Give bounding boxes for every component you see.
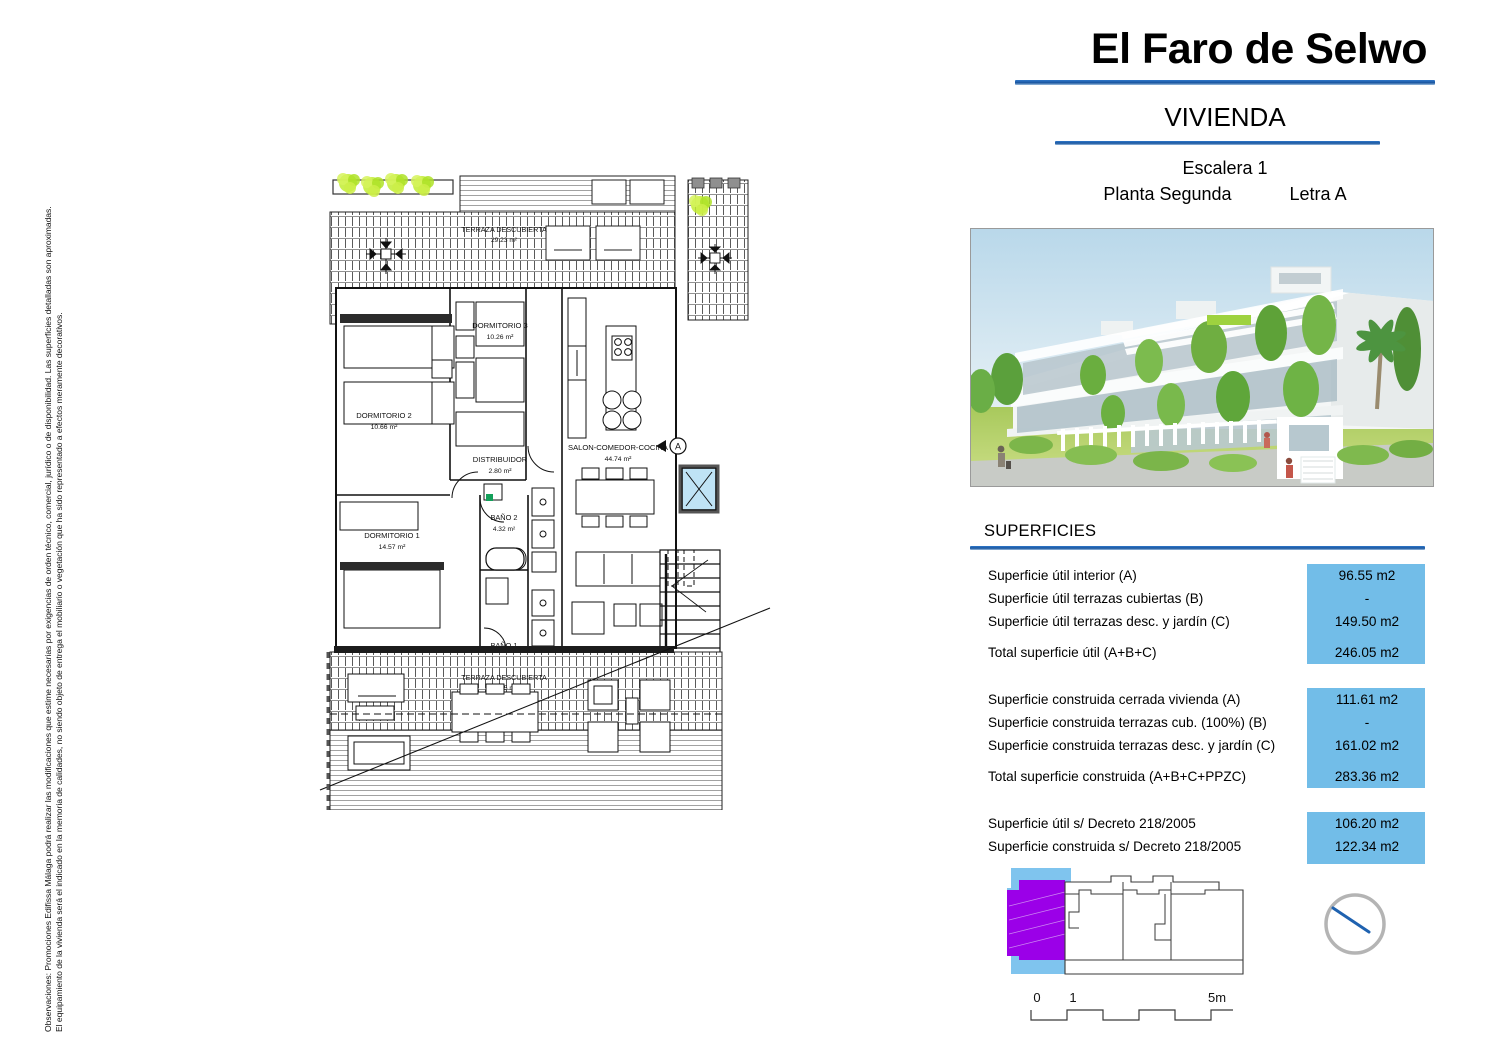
superficies-group-decreto: Superficie útil s/ Decreto 218/2005 106.… [970,812,1432,858]
room-label-terraza-inf: TERRAZA DESCUBIERTA [461,673,547,682]
row-label: Superficie construida s/ Decreto 218/200… [970,839,1308,854]
title-divider [1015,80,1435,85]
superficies-group-construida: Superficie construida cerrada vivienda (… [970,688,1432,788]
row-value: 283.36 m2 [1308,769,1426,784]
table-row: Superficie construida terrazas cub. (100… [970,711,1432,734]
escalera-label: Escalera 1 [1010,158,1440,179]
superficies-group-util: Superficie útil interior (A) 96.55 m2 Su… [970,564,1432,664]
room-area-dormitorio-1: 14.57 m² [379,544,407,551]
room-area-salon: 44.74 m² [605,456,633,463]
title-block: El Faro de Selwo VIVIENDA Escalera 1 Pla… [965,28,1435,205]
scale-tick-1: 1 [1069,990,1076,1005]
table-row-total: Total superficie útil (A+B+C) 246.05 m2 [970,641,1432,664]
table-row: Superficie construida cerrada vivienda (… [970,688,1432,711]
row-label: Superficie útil terrazas cubiertas (B) [970,591,1308,606]
subtitle: VIVIENDA [1015,102,1435,133]
row-value: 161.02 m2 [1308,738,1426,753]
room-label-dormitorio-2: DORMITORIO 2 [356,411,412,420]
row-label: Superficie útil s/ Decreto 218/2005 [970,816,1308,831]
legal-notice-line-2: El equipamiento de la vivienda será el i… [55,312,64,1032]
row-label: Total superficie útil (A+B+C) [970,645,1308,660]
row-label: Superficie construida terrazas desc. y j… [970,738,1308,753]
superficies-heading: SUPERFICIES [970,522,1432,541]
table-row: Superficie útil interior (A) 96.55 m2 [970,564,1432,587]
row-label: Superficie construida cerrada vivienda (… [970,692,1308,707]
subtitle-divider [1055,141,1380,145]
row-value: 96.55 m2 [1308,568,1426,583]
room-area-dormitorio-2: 10.66 m² [371,424,399,431]
room-label-salon: SALON-COMEDOR-COCINA [568,443,669,452]
room-label-bano-2: BAÑO 2 [490,513,517,522]
page-title: El Faro de Selwo [965,28,1435,71]
superficies-section: SUPERFICIES Superficie útil interior (A)… [970,522,1432,858]
compass-north-icon [1326,895,1384,953]
superficies-divider [970,546,1425,550]
planta-letra-row: Planta Segunda Letra A [1010,184,1440,205]
scale-tick-0: 0 [1033,990,1040,1005]
room-area-distribuidor: 2.80 m² [488,468,512,475]
row-value: 111.61 m2 [1308,692,1426,707]
svg-text:A: A [675,442,681,452]
exterior-render-image [970,228,1434,487]
planta-label: Planta Segunda [1103,184,1231,205]
row-value: 149.50 m2 [1308,614,1426,629]
row-value: - [1308,715,1426,730]
floor-plan-drawing: TERRAZA DESCUBIERTA 29.23 m² [300,150,780,810]
room-label-terraza-sup: TERRAZA DESCUBIERTA [461,225,547,234]
room-label-dormitorio-3: DORMITORIO 3 [472,321,528,330]
row-label: Total superficie construida (A+B+C+PPZC) [970,769,1308,784]
row-label: Superficie construida terrazas cub. (100… [970,715,1308,730]
table-row: Superficie útil terrazas desc. y jardín … [970,610,1432,633]
scale-tick-5: 5m [1208,990,1226,1005]
legal-notice-line-1: Observaciones: Promociones Edifissa Mála… [44,206,53,1032]
row-label: Superficie útil terrazas desc. y jardín … [970,614,1308,629]
row-value: 106.20 m2 [1308,816,1426,831]
room-area-bano-2: 4.32 m² [493,526,516,533]
letra-label: Letra A [1290,184,1347,205]
table-row: Superficie construida s/ Decreto 218/200… [970,835,1432,858]
info-panel: El Faro de Selwo VIVIENDA Escalera 1 Pla… [965,0,1470,1061]
room-label-distribuidor: DISTRIBUIDOR [473,455,528,464]
table-row-total: Total superficie construida (A+B+C+PPZC)… [970,765,1432,788]
table-row: Superficie útil s/ Decreto 218/2005 106.… [970,812,1432,835]
room-label-dormitorio-1: DORMITORIO 1 [364,531,420,540]
room-area-dormitorio-3: 10.26 m² [487,334,515,341]
key-plan-block: 0 1 5m [1005,862,1435,1032]
row-value: 246.05 m2 [1308,645,1426,660]
room-area-terraza-sup: 29.23 m² [491,237,518,244]
row-value: 122.34 m2 [1308,839,1426,854]
table-row: Superficie útil terrazas cubiertas (B) - [970,587,1432,610]
keyplan-highlight-unit [1007,880,1065,960]
legal-notice-block: Observaciones: Promociones Edifissa Mála… [0,0,70,1061]
row-value: - [1308,591,1426,606]
table-row: Superficie construida terrazas desc. y j… [970,734,1432,757]
row-label: Superficie útil interior (A) [970,568,1308,583]
scale-bar: 0 1 5m [1031,990,1233,1020]
